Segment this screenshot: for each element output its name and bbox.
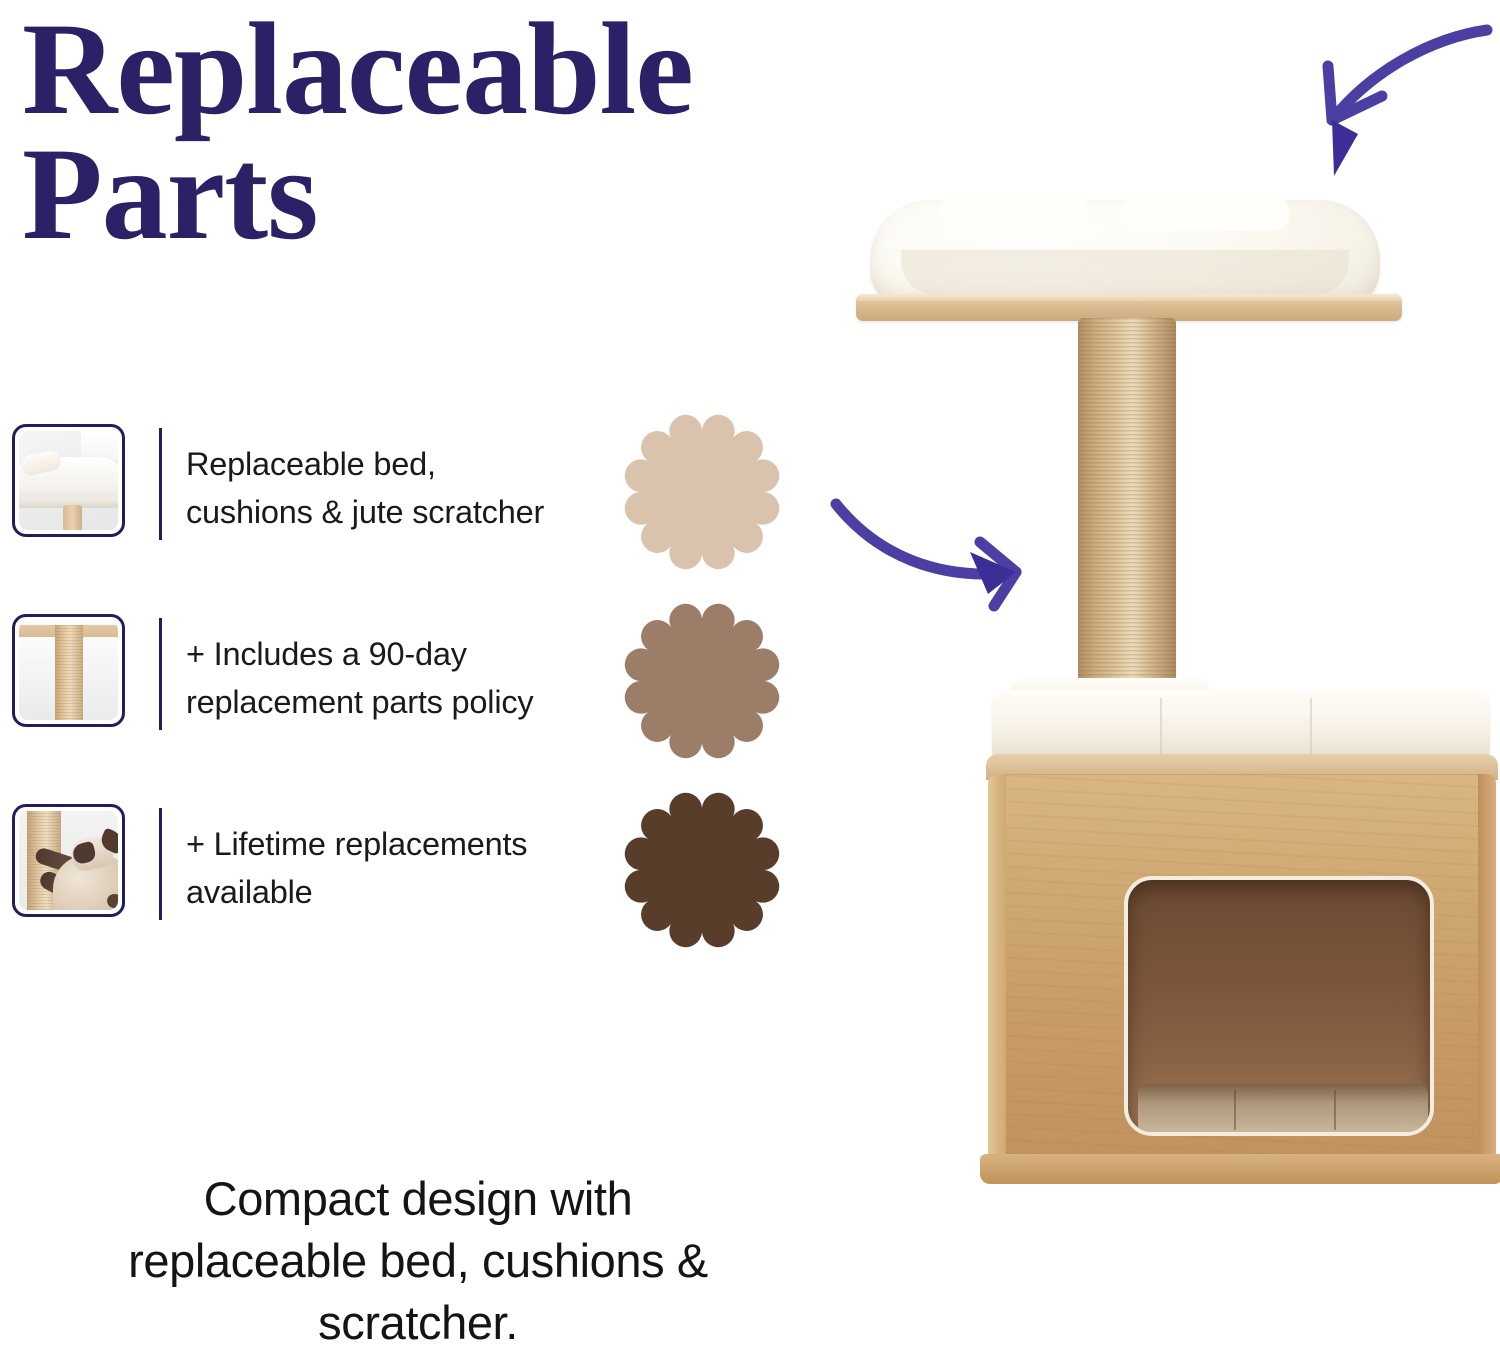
caption-line-2: replaceable bed, cushions & [8, 1230, 828, 1292]
jute-post-thumbnail [12, 614, 125, 727]
page-title: Replaceable Parts [22, 6, 842, 257]
cabinet-opening [1124, 876, 1434, 1136]
swatch-medium-taupe [624, 603, 780, 759]
swatch-light-beige [624, 414, 780, 570]
feature-2-line-1: + Includes a 90-day [186, 630, 656, 678]
feature-list: Replaceable bed, cushions & jute scratch… [12, 424, 652, 994]
bottom-caption: Compact design with replaceable bed, cus… [8, 1168, 828, 1354]
feature-2-line-2: replacement parts policy [186, 678, 656, 726]
jute-scratching-post [1078, 318, 1176, 716]
replaceable-bed-thumbnail [12, 424, 125, 537]
wooden-platform [856, 294, 1402, 321]
feature-text-replaceable-bed: Replaceable bed, cushions & jute scratch… [186, 440, 656, 536]
swatch-dark-brown [624, 792, 780, 948]
page-title-line-1: Replaceable [22, 6, 842, 131]
feature-item-replaceable-bed: Replaceable bed, cushions & jute scratch… [12, 424, 652, 614]
cat-scratching-thumbnail [12, 804, 125, 917]
feature-divider [159, 428, 162, 540]
caption-line-3: scratcher. [8, 1292, 828, 1354]
feature-text-replacement-policy: + Includes a 90-day replacement parts po… [186, 630, 656, 726]
feature-3-line-2: available [186, 868, 656, 916]
cabinet-base [980, 1154, 1500, 1184]
caption-line-1: Compact design with [8, 1168, 828, 1230]
feature-1-line-2: cushions & jute scratcher [186, 488, 656, 536]
feature-item-lifetime-replacements: + Lifetime replacements available [12, 804, 652, 994]
feature-3-line-1: + Lifetime replacements [186, 820, 656, 868]
feature-divider [159, 618, 162, 730]
feature-text-lifetime-replacements: + Lifetime replacements available [186, 820, 656, 916]
feature-divider [159, 808, 162, 920]
cabinet-right-edge [1478, 774, 1496, 1184]
feature-item-replacement-policy: + Includes a 90-day replacement parts po… [12, 614, 652, 804]
cabinet-left-edge [988, 774, 1006, 1184]
page-title-line-2: Parts [22, 131, 842, 256]
arrow-to-top-bed [1182, 8, 1500, 198]
feature-1-line-1: Replaceable bed, [186, 440, 656, 488]
top-fleece-bed [870, 200, 1380, 308]
cat-tree-with-cabinet [860, 186, 1500, 1196]
cushion-top [992, 690, 1490, 762]
